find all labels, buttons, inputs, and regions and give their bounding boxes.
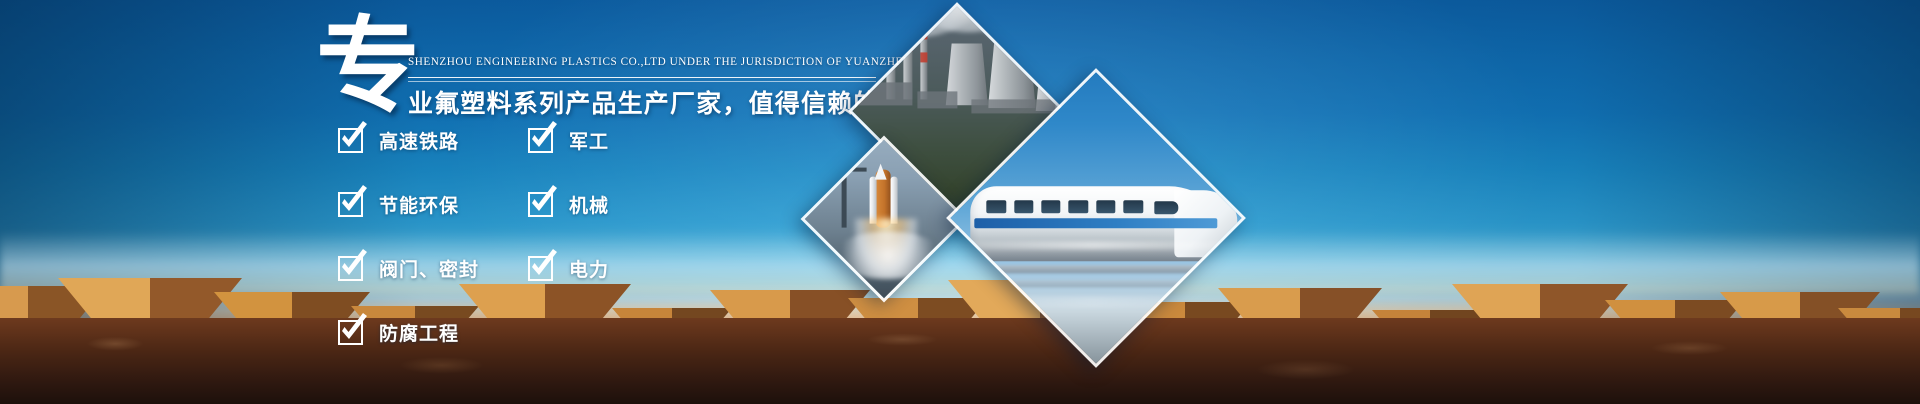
photo-diamonds (0, 0, 1920, 404)
promo-banner: 专 SHENZHOU ENGINEERING PLASTICS CO.,LTD … (0, 0, 1920, 404)
